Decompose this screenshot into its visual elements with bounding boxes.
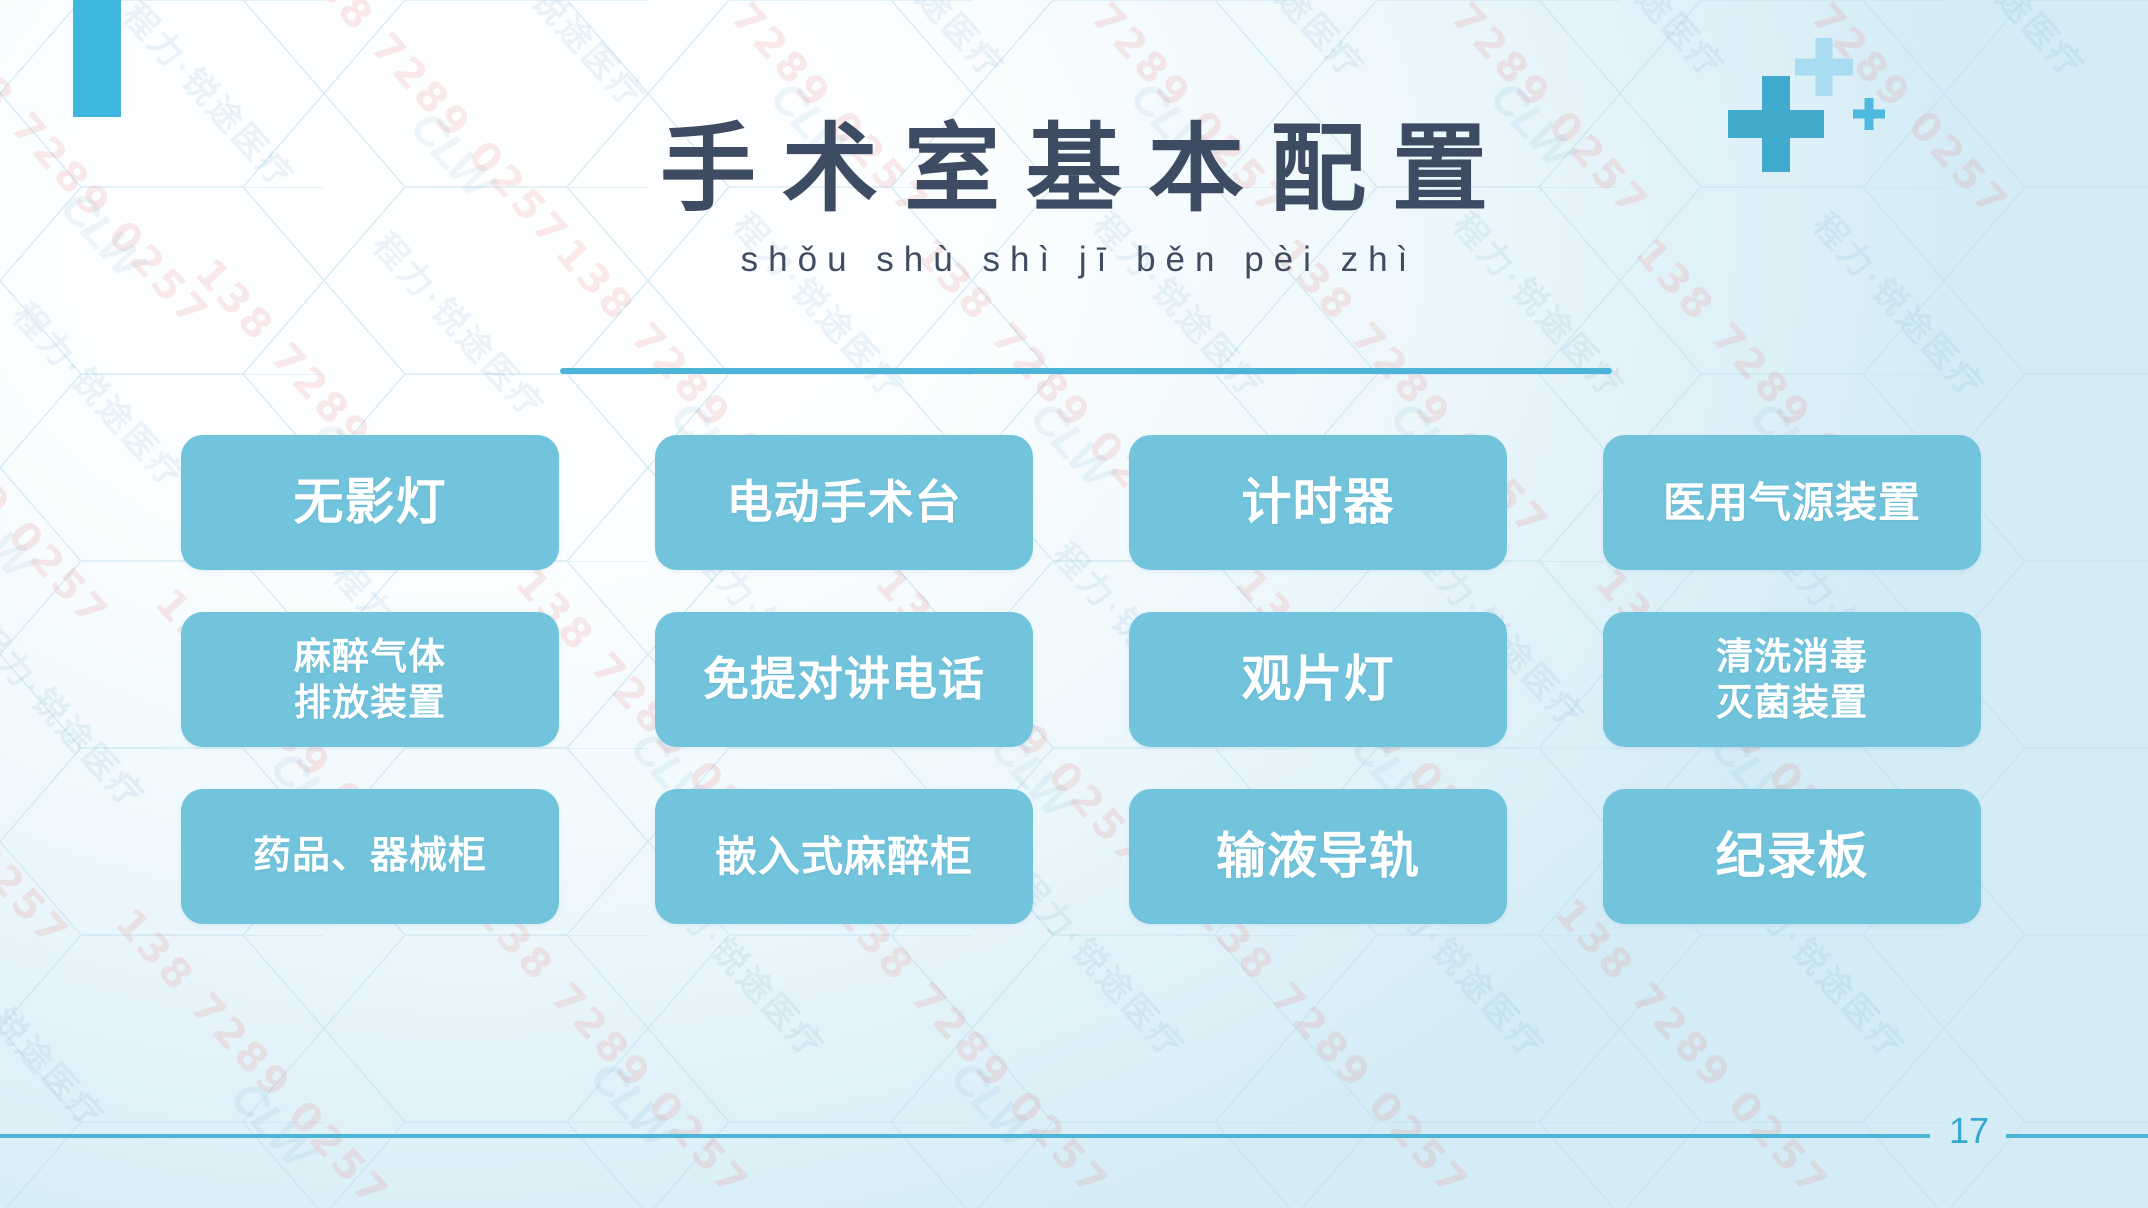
equipment-card-label: 计时器	[1242, 473, 1395, 532]
page-title: 手术室基本配置	[0, 118, 2148, 222]
equipment-card-label: 嵌入式麻醉柜	[715, 832, 973, 882]
equipment-card-label: 观片灯	[1242, 650, 1395, 709]
watermark-logo: CLW	[580, 1050, 685, 1158]
watermark-phone: 138 7289 0257	[826, 890, 1118, 1208]
equipment-card[interactable]: 医用气源装置	[1603, 435, 1981, 570]
watermark-brand: 程力·锐途医疗	[1184, 0, 1379, 88]
equipment-card[interactable]: 药品、器械柜	[181, 789, 559, 924]
equipment-card-label: 无影灯	[294, 473, 447, 532]
watermark-brand: 程力·锐途医疗	[464, 0, 659, 118]
equipment-card-grid: 无影灯 电动手术台 计时器 医用气源装置 麻醉气体 排放装置 免提对讲电话 观片…	[181, 435, 1981, 924]
equipment-card-label: 医用气源装置	[1663, 478, 1921, 528]
equipment-card[interactable]: 纪录板	[1603, 789, 1981, 924]
watermark-phone: 138 7289 0257	[1546, 890, 1838, 1208]
equipment-card-label: 输液导轨	[1216, 827, 1420, 886]
accent-bar-top-left	[73, 0, 121, 117]
equipment-card[interactable]: 观片灯	[1129, 612, 1507, 747]
watermark-phone: 138 7289 0257	[1186, 890, 1478, 1208]
watermark-phone: 138 7289 0257	[0, 960, 38, 1208]
slide-canvas: 138 7289 0257 程力·锐途医疗 CLW 138 7289 0257 …	[0, 0, 2148, 1208]
equipment-card-label: 免提对讲电话	[703, 652, 985, 706]
equipment-card[interactable]: 计时器	[1129, 435, 1507, 570]
watermark-brand: 程力·锐途医疗	[4, 290, 199, 498]
watermark-brand: 程力·锐途医疗	[1904, 0, 2099, 88]
watermark-logo: CLW	[0, 480, 44, 588]
equipment-card-label: 纪录板	[1716, 827, 1869, 886]
watermark-brand: 程力·锐途医疗	[0, 930, 118, 1138]
watermark-brand: 程力·锐途医疗	[824, 0, 1019, 88]
watermark-phone: 138 7289 0257	[106, 900, 398, 1208]
equipment-card-label: 清洗消毒 灭菌装置	[1716, 634, 1868, 724]
watermark-phone: 138 7289 0257	[466, 890, 758, 1208]
watermark-phone: 138 7289 0257	[0, 320, 118, 638]
title-block: 手术室基本配置 shǒu shù shì jī běn pèi zhì	[0, 118, 2148, 280]
page-title-pinyin: shǒu shù shì jī běn pèi zhì	[0, 240, 2148, 280]
page-number: 17	[1938, 1110, 2000, 1152]
equipment-card-label: 麻醉气体 排放装置	[294, 634, 446, 724]
footer-divider-left	[0, 1134, 1930, 1138]
equipment-card[interactable]: 无影灯	[181, 435, 559, 570]
watermark-logo: CLW	[0, 800, 4, 908]
watermark-logo: CLW	[220, 1070, 325, 1178]
equipment-card[interactable]: 免提对讲电话	[655, 612, 1033, 747]
equipment-card[interactable]: 电动手术台	[655, 435, 1033, 570]
equipment-card-label: 电动手术台	[727, 475, 962, 529]
footer-divider-right	[2006, 1134, 2148, 1138]
watermark-phone: 138 7289 0257	[0, 640, 78, 958]
watermark-brand: 程力·锐途医疗	[0, 610, 158, 818]
equipment-card[interactable]: 嵌入式麻醉柜	[655, 789, 1033, 924]
watermark-logo: CLW	[940, 1050, 1045, 1158]
equipment-card[interactable]: 麻醉气体 排放装置	[181, 612, 559, 747]
equipment-card-label: 药品、器械柜	[253, 834, 487, 879]
equipment-card[interactable]: 输液导轨	[1129, 789, 1507, 924]
title-divider	[560, 368, 1612, 374]
equipment-card[interactable]: 清洗消毒 灭菌装置	[1603, 612, 1981, 747]
